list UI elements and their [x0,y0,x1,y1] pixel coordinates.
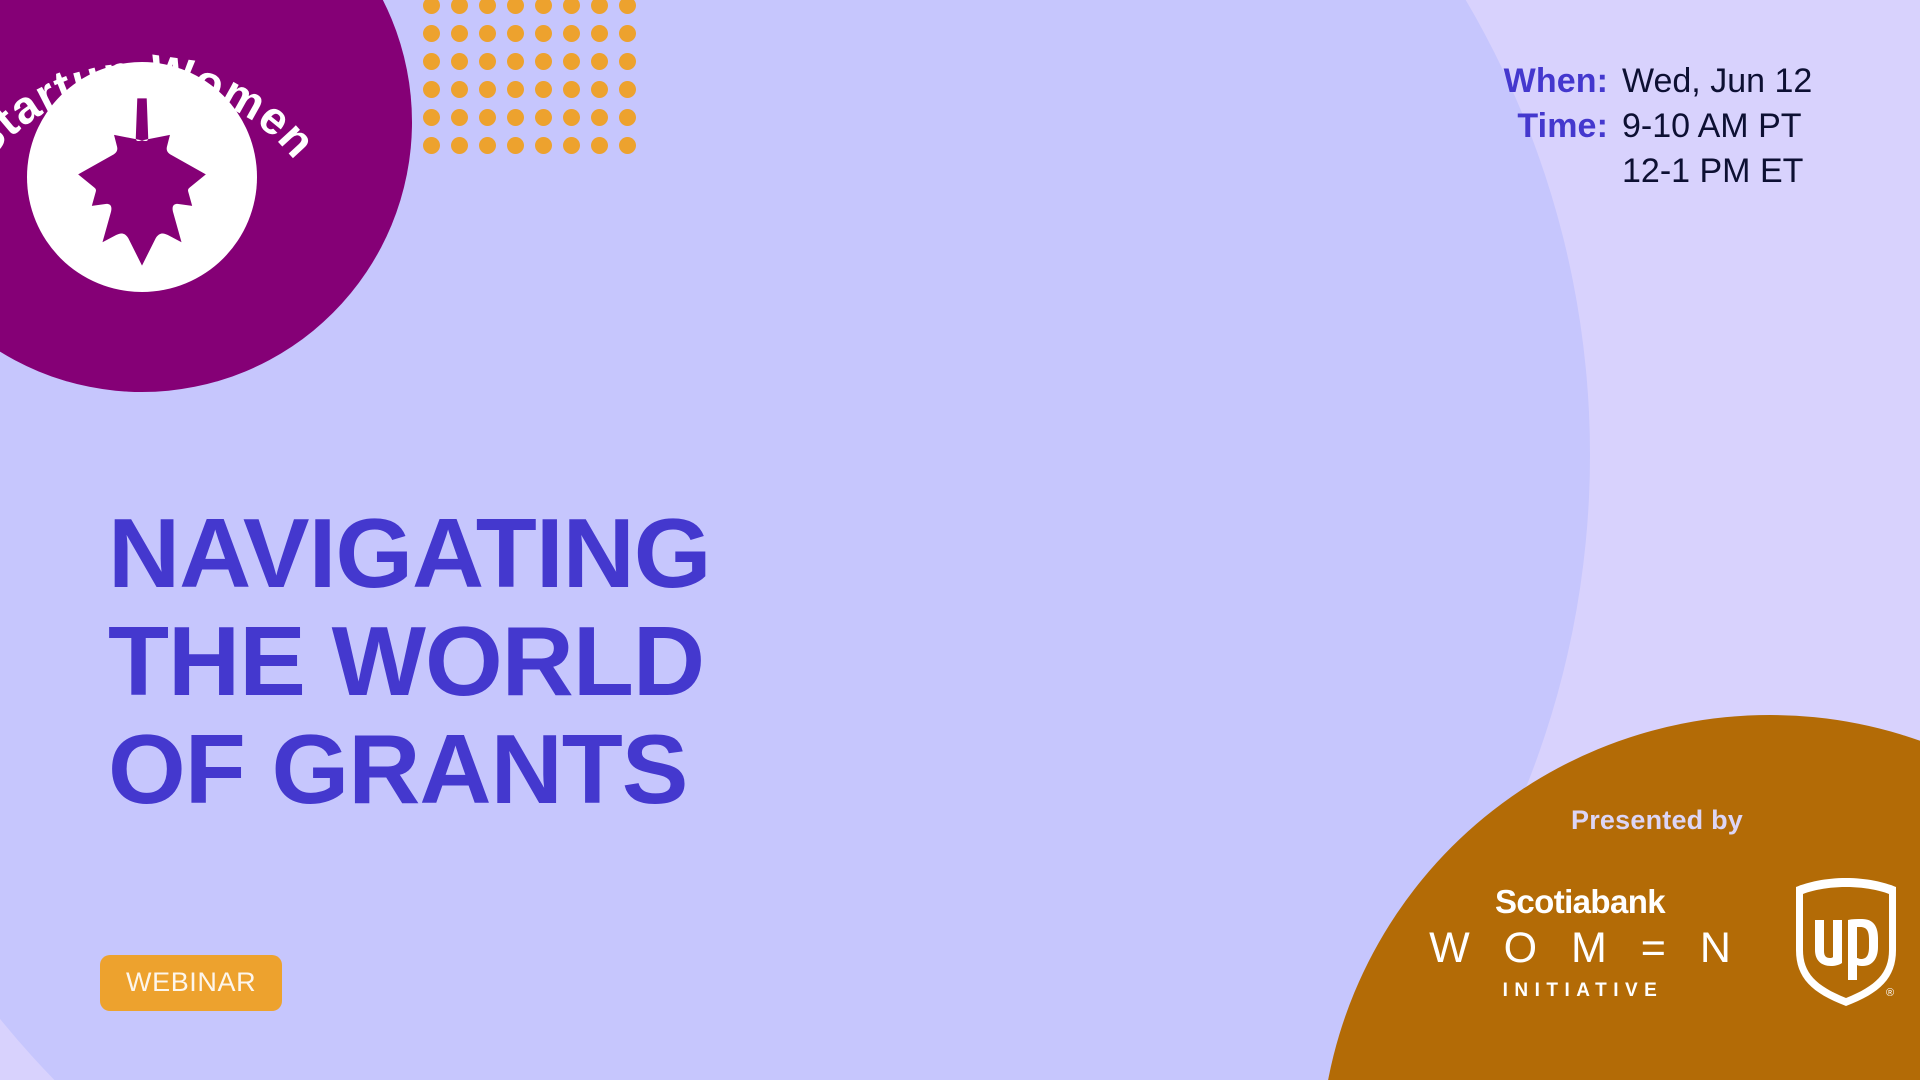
schedule-row: Time:12-1 PM ET [1517,152,1852,191]
dot-decor [535,25,552,42]
dot-decor [423,137,440,154]
dot-decor [591,109,608,126]
dot-decor [619,137,636,154]
dot-decor [507,81,524,98]
schedule-value: 12-1 PM ET [1622,152,1852,191]
dot-decor [535,81,552,98]
dot-decor [451,0,468,14]
dot-decor [451,137,468,154]
dot-decor [479,25,496,42]
dot-decor [563,81,580,98]
dot-decor [591,25,608,42]
title-line: THE WORLD [108,608,711,716]
schedule-row: Time:9-10 AM PT [1517,107,1852,146]
dot-decor [423,25,440,42]
dot-decor [535,0,552,14]
dot-decor [507,25,524,42]
dot-decor [563,137,580,154]
schedule-value: 9-10 AM PT [1622,107,1852,146]
dot-decor [591,0,608,14]
dot-decor [619,0,636,14]
schedule-block: When:Wed, Jun 12Time:9-10 AM PTTime:12-1… [1504,62,1852,191]
dot-decor [479,109,496,126]
dot-decor [535,109,552,126]
ups-trademark: ® [1886,987,1894,999]
dot-decor [423,0,440,14]
slide-canvas: Startup Women When:Wed, Jun 12Time:9-10 … [0,0,1920,1080]
dot-decor [591,137,608,154]
dot-decor [563,0,580,14]
scotiabank-women-initiative-logo: Scotiabank W O M = N INITIATIVE [1418,885,1742,1000]
sponsor-block: Presented by Scotiabank W O M = N INITIA… [1380,805,1920,1010]
dot-decor [535,137,552,154]
dot-decor [591,53,608,70]
title-line: OF GRANTS [108,716,711,824]
initiative-wordmark: INITIATIVE [1497,981,1664,1000]
dot-decor [507,0,524,14]
dot-decor [479,137,496,154]
dot-decor [563,53,580,70]
dot-decor [563,109,580,126]
dot-decor [563,25,580,42]
dot-decor [423,109,440,126]
dot-decor [423,53,440,70]
dot-decor [535,53,552,70]
sponsor-logo-row: Scotiabank W O M = N INITIATIVE ® [1418,874,1902,1010]
brand-logo: Startup Women [0,0,412,392]
schedule-row: When:Wed, Jun 12 [1504,62,1852,101]
schedule-value: Wed, Jun 12 [1622,62,1852,101]
scotiabank-wordmark: Scotiabank [1495,885,1665,918]
dot-decor [619,109,636,126]
dot-decor [423,81,440,98]
presented-by-label: Presented by [1571,805,1743,836]
dot-decor [451,81,468,98]
dot-grid-decor [418,0,642,160]
schedule-label: When: [1504,62,1608,101]
dot-decor [479,53,496,70]
dot-decor [479,81,496,98]
title-line: NAVIGATING [108,500,711,608]
ups-logo: ® [1790,874,1902,1010]
dot-decor [507,109,524,126]
dot-decor [479,0,496,14]
dot-decor [451,109,468,126]
dot-decor [451,25,468,42]
dot-decor [451,53,468,70]
women-wordmark: W O M = N [1418,927,1742,970]
dot-decor [619,81,636,98]
dot-decor [591,81,608,98]
status-badge-webinar: WEBINAR [100,955,282,1011]
dot-decor [507,137,524,154]
page-title: NAVIGATINGTHE WORLDOF GRANTS [108,500,711,823]
schedule-label: Time: [1517,107,1608,146]
dot-decor [507,53,524,70]
dot-decor [619,53,636,70]
dot-decor [619,25,636,42]
